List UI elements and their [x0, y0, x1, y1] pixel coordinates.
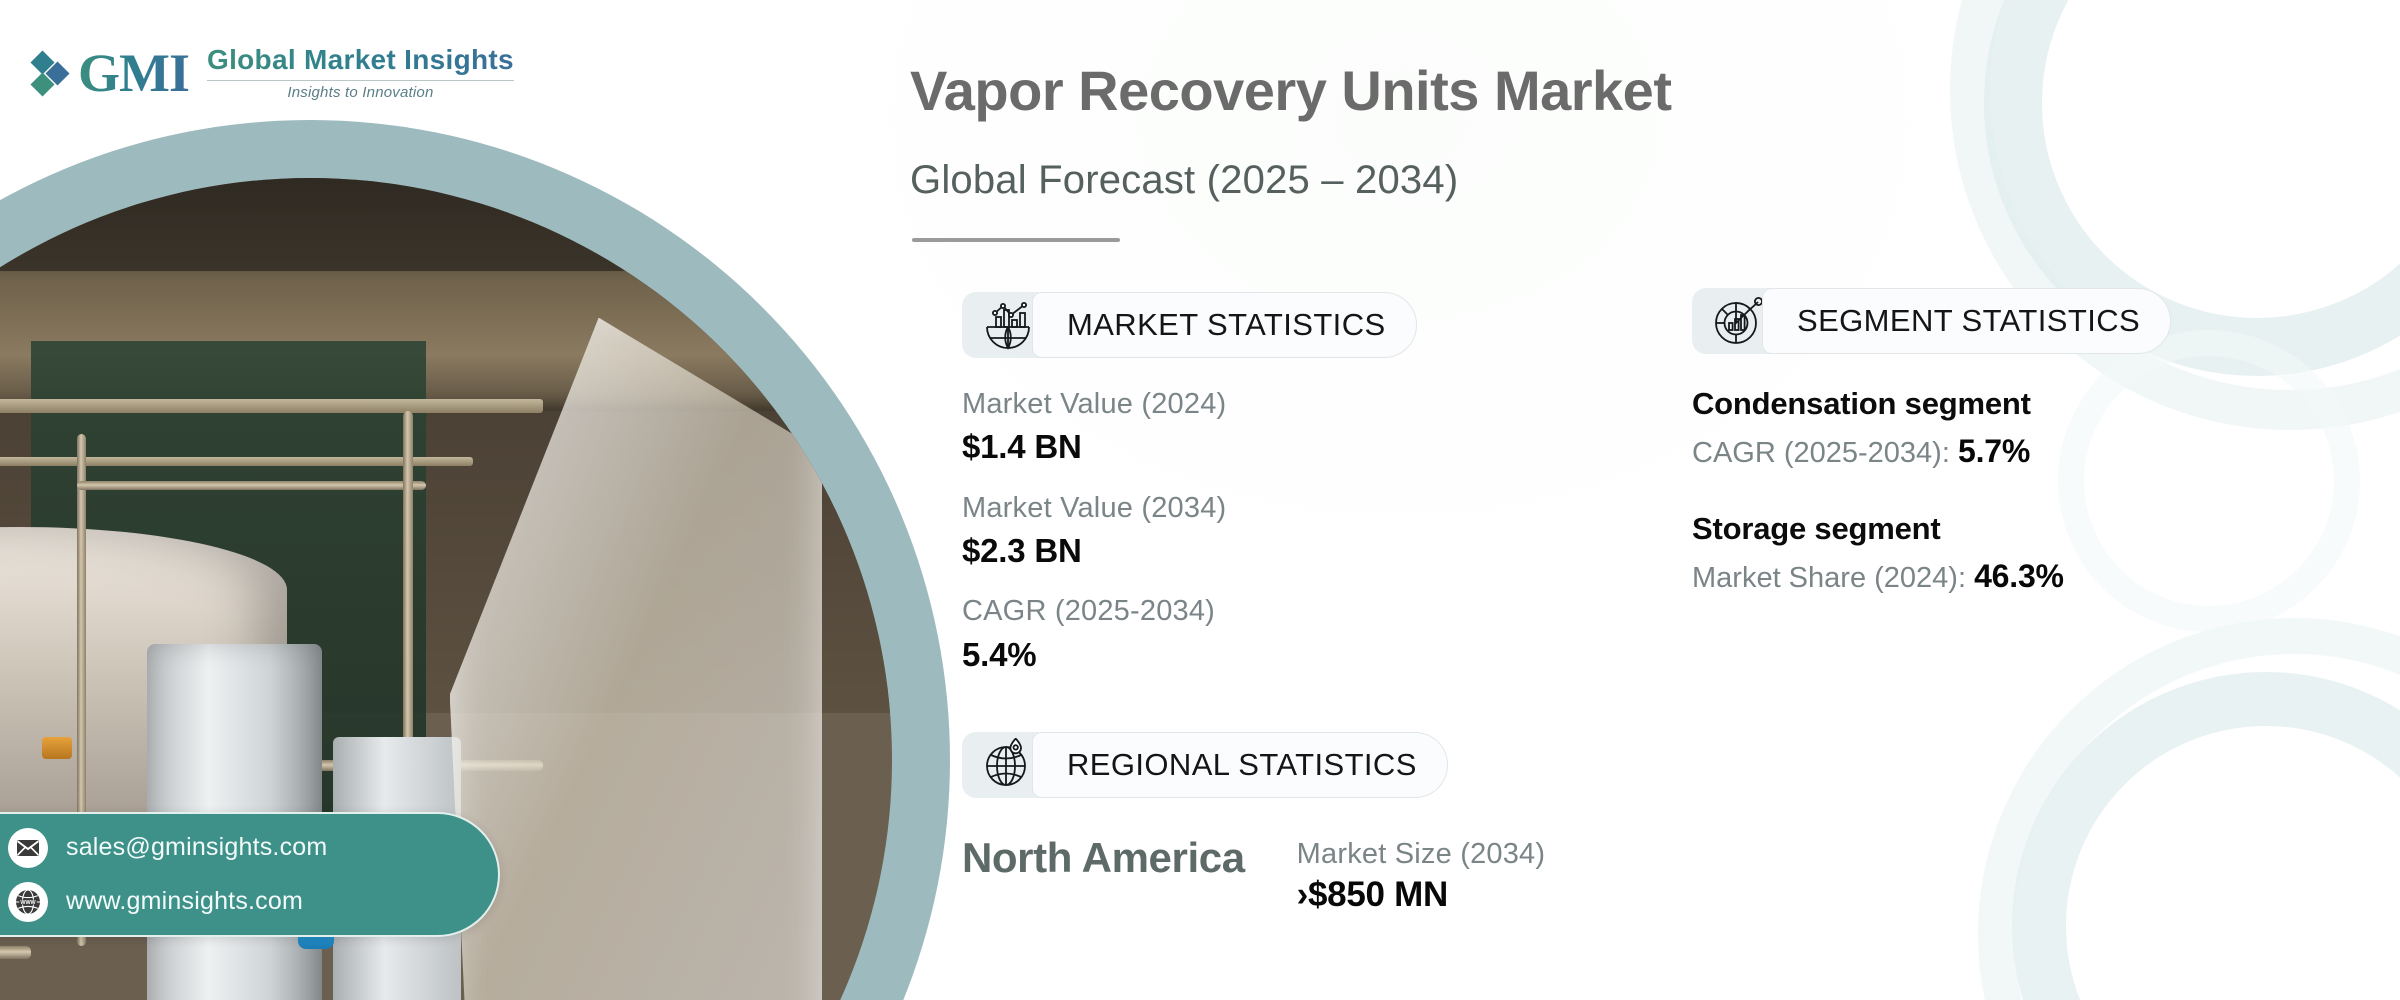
storage-share-value: 46.3% — [1974, 558, 2064, 594]
decorative-ring-outer-bottom — [1978, 618, 2400, 1000]
contact-website-row[interactable]: WWW www.gminsights.com — [8, 882, 498, 922]
condensation-cagr-label: CAGR (2025-2034): — [1692, 437, 1958, 469]
market-statistics-badge[interactable]: MARKET STATISTICS — [962, 292, 1417, 358]
page-title: Vapor Recovery Units Market — [910, 58, 1671, 123]
contact-email-text: sales@gminsights.com — [66, 833, 327, 862]
condensation-segment-metric: CAGR (2025-2034): 5.7% — [1692, 427, 2171, 476]
market-statistics-block: MARKET STATISTICS Market Value (2024) $1… — [962, 292, 1417, 677]
contact-website-text: www.gminsights.com — [66, 887, 303, 916]
www-globe-icon: WWW — [8, 882, 48, 922]
logo-company-name: Global Market Insights — [207, 44, 514, 76]
regional-statistics-label: REGIONAL STATISTICS — [1032, 732, 1448, 798]
decorative-ring-bottom — [2012, 672, 2400, 1000]
region-name: North America — [962, 834, 1245, 881]
storage-segment-metric: Market Share (2024): 46.3% — [1692, 552, 2171, 601]
region-metric-value: ›$850 MN — [1297, 875, 1546, 915]
segment-statistics-badge[interactable]: SEGMENT STATISTICS — [1692, 288, 2171, 354]
title-underline — [912, 238, 1120, 242]
region-metric-label: Market Size (2034) — [1297, 834, 1546, 875]
contact-email-row[interactable]: sales@gminsights.com — [8, 828, 498, 868]
logo-mark-text: GMI — [78, 49, 189, 97]
gmi-logo[interactable]: GMI Global Market Insights Insights to I… — [34, 44, 514, 101]
market-cagr-value: 5.4% — [962, 633, 1417, 678]
segment-statistics-block: SEGMENT STATISTICS Condensation segment … — [1692, 288, 2171, 601]
market-value-2024-value: $1.4 BN — [962, 425, 1417, 470]
logo-diamond-icon — [34, 46, 68, 100]
logo-divider — [207, 80, 514, 81]
regional-statistics-block: REGIONAL STATISTICS North America Market… — [962, 732, 1545, 915]
market-cagr-label: CAGR (2025-2034) — [962, 591, 1417, 632]
contact-bar: sales@gminsights.com WWW www.gminsights.… — [0, 812, 500, 937]
condensation-segment-heading: Condensation segment — [1692, 382, 2171, 427]
storage-share-label: Market Share (2024): — [1692, 562, 1974, 594]
page-subtitle: Global Forecast (2025 – 2034) — [910, 158, 1458, 203]
segment-statistics-label: SEGMENT STATISTICS — [1762, 288, 2171, 354]
market-value-2034-value: $2.3 BN — [962, 529, 1417, 574]
envelope-icon — [8, 828, 48, 868]
infographic-canvas: sales@gminsights.com WWW www.gminsights.… — [0, 0, 2400, 1000]
svg-text:WWW: WWW — [20, 899, 36, 905]
regional-statistics-badge[interactable]: REGIONAL STATISTICS — [962, 732, 1545, 798]
logo-tagline: Insights to Innovation — [207, 84, 514, 101]
market-value-2024-label: Market Value (2024) — [962, 384, 1417, 425]
storage-segment-heading: Storage segment — [1692, 507, 2171, 552]
market-value-2034-label: Market Value (2034) — [962, 488, 1417, 529]
condensation-cagr-value: 5.7% — [1958, 433, 2030, 469]
market-statistics-label: MARKET STATISTICS — [1032, 292, 1417, 358]
